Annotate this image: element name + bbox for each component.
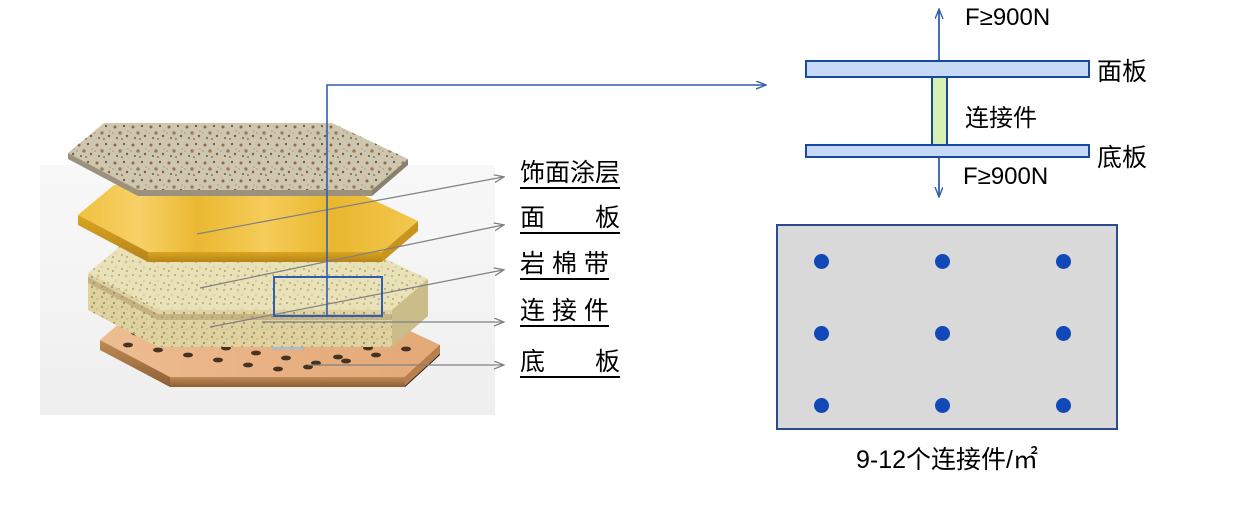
label-rock-wool: 岩 棉 带 xyxy=(520,251,609,280)
force-label-bottom: F≥900N xyxy=(963,163,1048,191)
label-face-board: 面 板 xyxy=(520,205,620,234)
anchor-dot xyxy=(935,398,950,413)
label-finish-coating: 饰面涂层 xyxy=(520,160,620,189)
anchor-dot xyxy=(935,254,950,269)
bottom-plate xyxy=(805,144,1090,158)
label-connector: 连 接 件 xyxy=(520,298,609,327)
layer-finish-coating xyxy=(68,123,408,196)
anchor-dot xyxy=(814,398,829,413)
label-base-board: 底 板 xyxy=(520,349,620,378)
anchor-dot xyxy=(814,254,829,269)
anchor-layout-panel xyxy=(776,224,1118,430)
force-label-top: F≥900N xyxy=(965,4,1050,32)
exploded-sandwich-panel xyxy=(40,105,510,420)
connector-bar xyxy=(931,76,948,148)
bottom-plate-label: 底板 xyxy=(1097,138,1147,174)
top-plate-label: 面板 xyxy=(1097,52,1147,88)
anchor-dot xyxy=(1056,254,1071,269)
anchor-dot xyxy=(935,326,950,341)
connector-label: 连接件 xyxy=(965,98,1037,133)
diagram-canvas: 饰面涂层 面 板 岩 棉 带 连 接 件 底 板 xyxy=(0,0,1234,505)
anchor-dot xyxy=(1056,398,1071,413)
anchor-dot xyxy=(1056,326,1071,341)
anchor-layout-caption: 9-12个连接件/㎡ xyxy=(776,440,1118,476)
anchor-dot xyxy=(814,326,829,341)
